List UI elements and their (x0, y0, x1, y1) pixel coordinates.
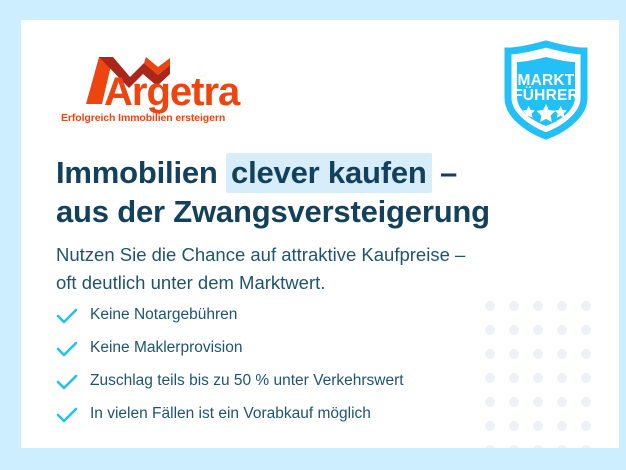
headline: Immobilien clever kaufen – aus der Zwang… (56, 153, 576, 232)
decoration-dot (533, 421, 543, 431)
decoration-dot (581, 445, 591, 448)
svg-text:FÜHRER: FÜHRER (513, 87, 579, 104)
svg-text:Argetra: Argetra (104, 70, 241, 114)
headline-line2: aus der Zwangsversteigerung (56, 192, 576, 231)
banner-card: Argetra Erfolgreich Immobilien ersteiger… (21, 20, 619, 448)
decoration-dot (509, 445, 519, 448)
check-icon (56, 338, 82, 360)
decoration-dot (557, 349, 567, 359)
benefit-label: Keine Notargebühren (90, 306, 237, 325)
decoration-dot (581, 421, 591, 431)
decoration-dot (533, 397, 543, 407)
decoration-dot (581, 397, 591, 407)
promo-banner: Argetra Erfolgreich Immobilien ersteiger… (0, 0, 626, 470)
decoration-dot (533, 349, 543, 359)
headline-line1-after: – (432, 155, 457, 190)
list-item: Keine Maklerprovision (56, 334, 526, 363)
decoration-dot (581, 373, 591, 383)
decoration-dot (557, 373, 567, 383)
benefit-label: Zuschlag teils bis zu 50 % unter Verkehr… (90, 372, 404, 391)
decoration-dot (557, 421, 567, 431)
check-icon (56, 371, 82, 393)
decoration-dot (581, 301, 591, 311)
decoration-dot (533, 373, 543, 383)
decoration-dot (557, 301, 567, 311)
check-icon (56, 305, 82, 327)
subheadline-line2: oft deutlich unter dem Marktwert. (56, 269, 556, 297)
decoration-dot (533, 325, 543, 335)
market-leader-badge: MARKT FÜHRER (494, 38, 598, 142)
decoration-dot (557, 397, 567, 407)
list-item: In vielen Fällen ist ein Vorabkauf mögli… (56, 400, 526, 429)
benefit-label: Keine Maklerprovision (90, 339, 243, 358)
decoration-dot (557, 325, 567, 335)
decoration-dot (581, 325, 591, 335)
decoration-dot (581, 349, 591, 359)
subheadline-line1: Nutzen Sie die Chance auf attraktive Kau… (56, 241, 556, 269)
svg-text:Erfolgreich Immobilien ersteig: Erfolgreich Immobilien ersteigern (61, 112, 225, 124)
list-item: Keine Notargebühren (56, 301, 526, 330)
decoration-dot (533, 445, 543, 448)
headline-line1-before: Immobilien (56, 155, 226, 190)
list-item: Zuschlag teils bis zu 50 % unter Verkehr… (56, 367, 526, 396)
headline-highlight: clever kaufen (226, 153, 432, 193)
check-icon (56, 404, 82, 426)
subheadline: Nutzen Sie die Chance auf attraktive Kau… (56, 241, 556, 297)
decoration-dot (533, 301, 543, 311)
benefit-list: Keine Notargebühren Keine Maklerprovisio… (56, 301, 526, 433)
benefit-label: In vielen Fällen ist ein Vorabkauf mögli… (90, 405, 371, 424)
argetra-logo[interactable]: Argetra Erfolgreich Immobilien ersteiger… (58, 47, 258, 127)
decoration-dot (485, 445, 495, 448)
decoration-dot (557, 445, 567, 448)
